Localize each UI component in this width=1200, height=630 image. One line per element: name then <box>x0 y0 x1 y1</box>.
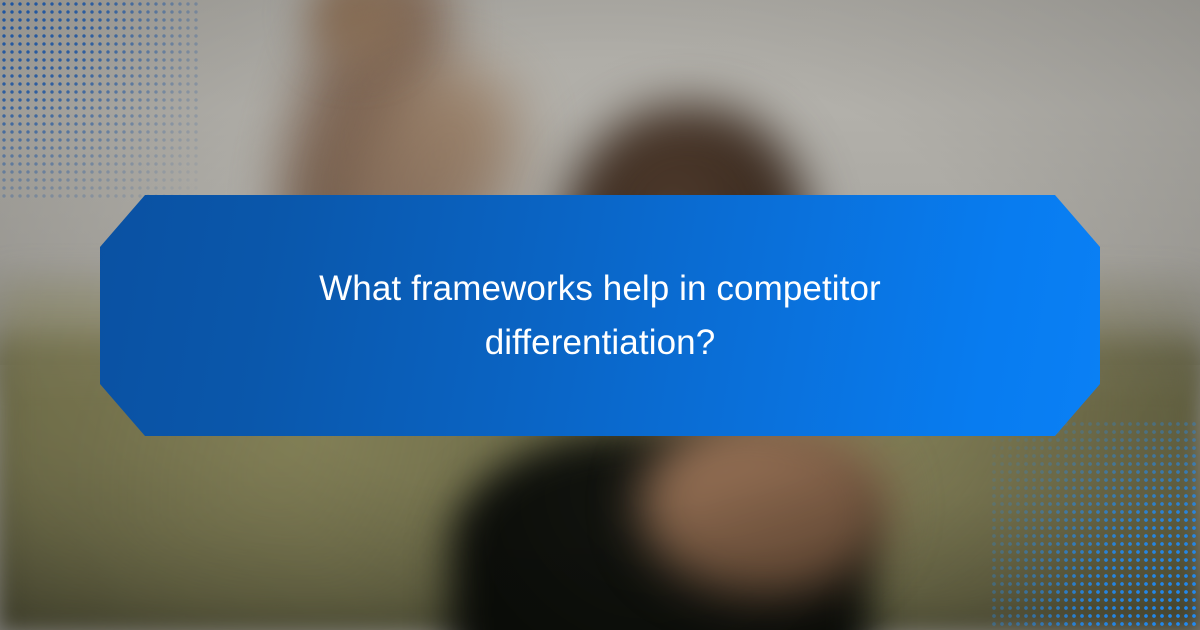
question-banner: What frameworks help in competitor diffe… <box>100 195 1100 436</box>
halftone-dots-top-left-icon <box>0 0 200 200</box>
question-card: What frameworks help in competitor diffe… <box>0 0 1200 630</box>
halftone-dots-bottom-right-icon <box>990 420 1200 630</box>
question-text: What frameworks help in competitor diffe… <box>250 262 950 369</box>
